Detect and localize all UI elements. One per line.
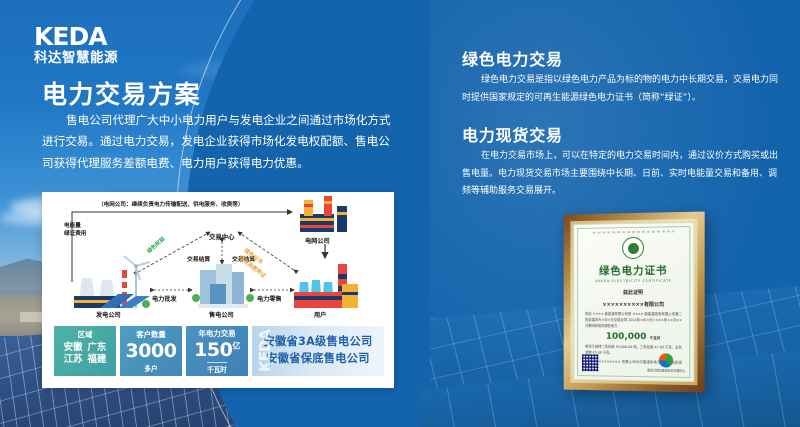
stat-customers-label: 客户数量 — [136, 329, 166, 340]
stat-trade-number: 150 — [194, 339, 232, 361]
stats-strip: 区域 安徽 广东 江苏 福建 · · · · · · 客户数量 3000 多户 … — [54, 326, 384, 376]
green-certificate-image: 绿色电力证书 GREEN ELECTRICITY CERTIFICATE 兹此证… — [564, 211, 705, 392]
certificate-footer: 国家可再生能源信息管理中心 — [582, 352, 685, 372]
stat-customers-unit: 多户 — [144, 363, 157, 373]
diagram-node-generator: 发电公司 — [96, 310, 121, 319]
keda-watermark: KEDA — [256, 330, 274, 372]
certificate-amount-unit: 千瓦时 — [650, 336, 661, 340]
stat-trade-magnitude: 亿 — [232, 342, 240, 351]
stat-trade-label: 年电力交易 — [199, 328, 236, 339]
certificate-frame-inner: 绿色电力证书 GREEN ELECTRICITY CERTIFICATE 兹此证… — [570, 219, 697, 385]
certificate-seal-icon — [622, 237, 644, 259]
diagram-left-note: 电能量 绿证费用 — [64, 222, 86, 239]
certificate-body: 购买 ×××× 新能源有限公司的 ×××× 新能源发电有限公司第二批复建风光×月… — [585, 312, 682, 330]
diagram-top-note: （电网公司：继续负责电力传输配送、供电服务、收费等） — [98, 200, 243, 208]
stat-card-region: 区域 安徽 广东 江苏 福建 · · · · · · — [54, 326, 116, 376]
issuer-name: 国家可再生能源信息管理中心 — [647, 368, 685, 373]
stat-card-annual-trade: 年电力交易 150亿 千瓦时 — [186, 326, 248, 376]
diagram-label-wholesale: 电力批发 — [152, 294, 177, 303]
diagram-node-seller: 售电公司 — [209, 310, 234, 319]
power-trading-flow-diagram: （电网公司：继续负责电力传输配送、供电服务、收费等） 电能量 绿证费用 交易中心… — [42, 192, 394, 322]
section-body-spot-trading: 在电力交易市场上，可以在特定的电力交易时间内，通过议价方式购买或出售电量。电力现… — [462, 148, 780, 201]
section-body-green-power: 绿色电力交易是指以绿色电力产品为标的物的电力中长期交易，交易电力同时提供国家规定… — [462, 72, 780, 107]
section-heading-green-power: 绿色电力交易 — [462, 46, 563, 70]
page-title: 电力交易方案 — [42, 75, 201, 111]
brand-logo: KEDA 科达智慧能源 — [34, 24, 118, 66]
certificate-frame: 绿色电力证书 GREEN ELECTRICITY CERTIFICATE 兹此证… — [564, 211, 705, 392]
stat-trade-value: 150亿 — [194, 341, 240, 360]
brand-logo-name: 科达智慧能源 — [34, 52, 118, 66]
grid-company-illustration — [300, 196, 347, 232]
diagram-arrows — [42, 192, 394, 322]
qualification-badge: KEDA 安徽省3A级售电公司 安徽省保底售电公司 — [252, 326, 384, 376]
diagram-label-retail: 电力零售 — [257, 294, 282, 303]
certificate-paper: 绿色电力证书 GREEN ELECTRICITY CERTIFICATE 兹此证… — [573, 222, 694, 382]
diagram-node-user: 用户 — [314, 310, 326, 319]
certificate-amount: 100,000 千瓦时 — [606, 332, 661, 342]
certificate-header-line — [592, 230, 674, 233]
region-item: 福建 — [88, 354, 107, 366]
intro-paragraph: 售电公司代理广大中小电力用户与发电企业之间通过市场化方式进行交易。通过电力交易，… — [42, 110, 394, 174]
brand-logo-mark: KEDA — [34, 24, 118, 49]
certificate-title: 绿色电力证书 — [599, 263, 667, 279]
certificate-company: ××××××××××有限公司 — [602, 301, 663, 308]
stat-trade-unit: 千瓦时 — [207, 362, 227, 374]
certificate-issuer: 国家可再生能源信息管理中心 — [647, 353, 685, 373]
slide-root: KEDA 科达智慧能源 电力交易方案 售电公司代理广大中小电力用户与发电企业之间… — [0, 0, 800, 427]
selling-company-illustration — [192, 264, 254, 308]
content-card: （电网公司：继续负责电力传输配送、供电服务、收费等） 电能量 绿证费用 交易中心… — [42, 192, 394, 388]
section-heading-spot-trading: 电力现货交易 — [462, 122, 563, 146]
badge-line-2: 安徽省保底售电公司 — [266, 351, 369, 368]
region-item: 江苏 — [64, 354, 83, 366]
certificate-amount-value: 100,000 — [606, 332, 647, 342]
certificate-subtitle: 兹此证明 — [623, 289, 643, 296]
diagram-label-settlement-left: 交易结算 — [187, 254, 210, 263]
stat-card-customers: 客户数量 3000 多户 — [120, 326, 182, 376]
stat-region-values: 安徽 广东 江苏 福建 — [64, 342, 107, 366]
region-item: 安徽 — [64, 342, 83, 354]
diagram-node-grid: 电网公司 — [305, 236, 330, 245]
stat-customers-value: 3000 — [126, 342, 177, 361]
user-illustration — [294, 264, 358, 308]
stat-region-ellipsis: · · · · · · — [71, 367, 99, 373]
stat-region-label: 区域 — [78, 329, 93, 340]
diagram-node-trading-center: 交易中心 — [209, 232, 235, 241]
qr-code-icon — [582, 354, 599, 371]
generation-company-illustration — [74, 256, 150, 308]
badge-line-1: 安徽省3A级售电公司 — [264, 334, 373, 351]
certificate-title-en: GREEN ELECTRICITY CERTIFICATE — [595, 279, 672, 283]
issuer-logo-icon — [659, 353, 673, 367]
region-item: 广东 — [88, 342, 107, 354]
certificate-seal-core — [628, 242, 639, 253]
